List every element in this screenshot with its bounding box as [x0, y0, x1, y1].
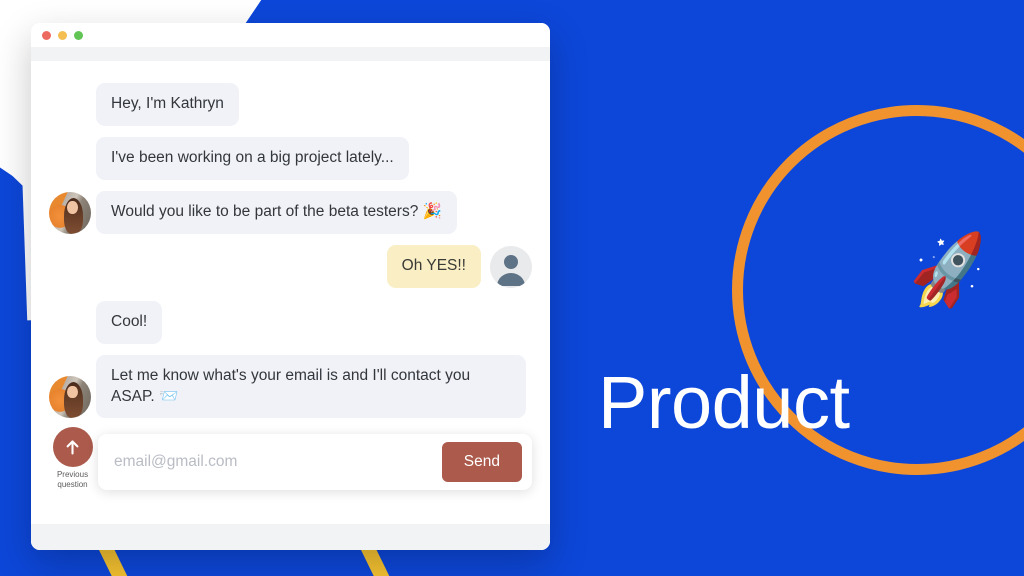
chat-conversation: Hey, I'm Kathryn I've been working on a …	[31, 61, 550, 550]
message-row: Cool!	[49, 301, 532, 344]
maximize-icon[interactable]	[74, 31, 83, 40]
hero-title: Product Launch	[598, 222, 850, 576]
avatar	[490, 246, 532, 288]
previous-question-control: Previous question	[49, 427, 96, 490]
arrow-up-icon	[64, 439, 81, 456]
email-input[interactable]	[114, 453, 442, 471]
previous-question-button[interactable]	[53, 427, 93, 467]
message-bubble: Hey, I'm Kathryn	[96, 83, 239, 126]
avatar-gutter	[49, 376, 96, 418]
minimize-icon[interactable]	[58, 31, 67, 40]
window-toolbar-band	[31, 47, 550, 61]
message-bubble: Oh YES!!	[387, 245, 481, 288]
message-row: Oh YES!!	[49, 245, 532, 288]
avatar-gutter	[49, 192, 96, 234]
message-row: Would you like to be part of the beta te…	[49, 191, 532, 234]
previous-question-label: Previous question	[57, 470, 88, 490]
message-bubble: Would you like to be part of the beta te…	[96, 191, 457, 234]
close-icon[interactable]	[42, 31, 51, 40]
window-titlebar	[31, 23, 550, 47]
browser-window: Hey, I'm Kathryn I've been working on a …	[31, 23, 550, 550]
email-composer-bar: Send	[98, 434, 532, 490]
avatar	[49, 376, 91, 418]
avatar	[49, 192, 91, 234]
rocket-icon: 🚀	[904, 233, 995, 310]
message-row: Hey, I'm Kathryn	[49, 83, 532, 126]
hero-title-line-1: Product	[598, 367, 850, 440]
send-button[interactable]: Send	[442, 442, 522, 482]
message-row: I've been working on a big project latel…	[49, 137, 532, 180]
window-footer-band	[31, 524, 550, 550]
message-row: Let me know what's your email is and I'l…	[49, 355, 532, 419]
message-bubble: Let me know what's your email is and I'l…	[96, 355, 526, 419]
composer: Previous question Send	[49, 427, 532, 490]
message-bubble: Cool!	[96, 301, 162, 344]
message-bubble: I've been working on a big project latel…	[96, 137, 409, 180]
